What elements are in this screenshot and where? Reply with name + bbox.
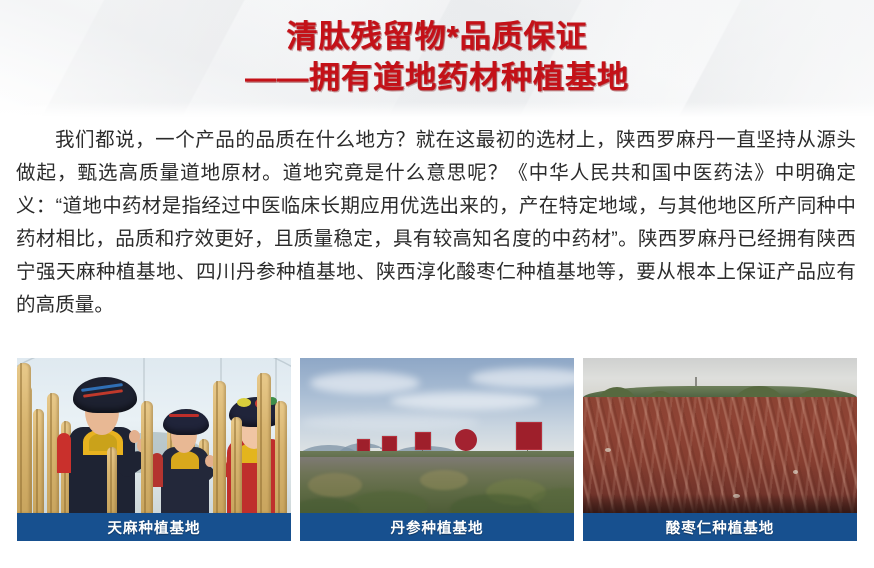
article-paragraph: 我们都说，一个产品的品质在什么地方？就在这最初的选材上，陕西罗麻丹一直坚持从源头… (16, 124, 856, 322)
gallery-caption: 丹参种植基地 (300, 513, 574, 541)
gallery-caption: 酸枣仁种植基地 (583, 513, 857, 541)
article-body: 我们都说，一个产品的品质在什么地方？就在这最初的选材上，陕西罗麻丹一直坚持从源头… (0, 124, 874, 322)
gallery-card[interactable]: 天麻种植基地 (17, 358, 291, 541)
soil-foreground-shadow (583, 494, 857, 513)
photo-danshen-base (300, 358, 574, 513)
field-signboard (415, 432, 431, 450)
photo-gallery: 天麻种植基地 (17, 358, 857, 541)
photo-suanzaoren-base (583, 358, 857, 513)
field-signboard (382, 436, 397, 452)
title-line-secondary: ——拥有道地药材种植基地 (0, 60, 874, 97)
page-header: 清肽残留物*品质保证 ——拥有道地药材种植基地 (0, 0, 874, 118)
page-title: 清肽残留物*品质保证 ——拥有道地药材种植基地 (0, 19, 874, 96)
gallery-card[interactable]: 丹参种植基地 (300, 358, 574, 541)
photo-tianma-base (17, 358, 291, 513)
field-signboard (516, 422, 542, 450)
title-line-primary: 清肽残留物*品质保证 (0, 19, 874, 56)
gallery-caption: 天麻种植基地 (17, 513, 291, 541)
gallery-card[interactable]: 酸枣仁种植基地 (583, 358, 857, 541)
header-bottom-fade (0, 102, 874, 118)
